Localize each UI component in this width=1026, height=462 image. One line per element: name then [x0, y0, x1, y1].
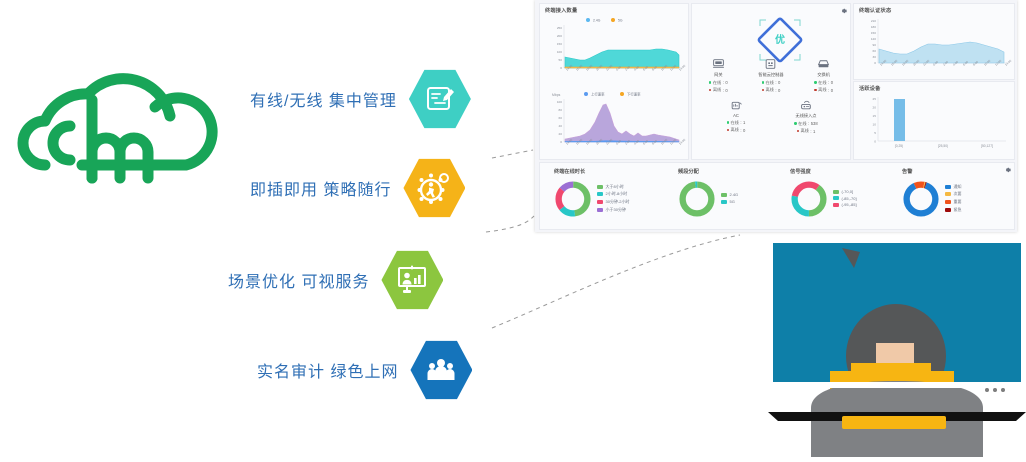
device-cell-switch[interactable]: 交换机 在线: 0 离线: 0	[798, 56, 850, 93]
donut-band-allocation[interactable]: 频段分配 2.4G 5G	[678, 163, 784, 229]
device-online: 在线: 1	[710, 120, 762, 126]
gateway-icon	[692, 56, 744, 71]
y-axis-ticks: 250 200 150 100 50 0	[557, 26, 562, 70]
people-group-icon	[410, 339, 472, 401]
svg-text:15: 15	[873, 114, 877, 118]
panel-title: 终端认证状态	[859, 7, 1014, 14]
person-in-gear-icon	[403, 157, 465, 219]
device-offline: 离线: 1	[780, 128, 832, 134]
device-name: 网关	[692, 72, 744, 78]
svg-text:10: 10	[873, 123, 877, 127]
svg-text:30: 30	[873, 55, 877, 59]
panel-auth-status[interactable]: 终端认证状态 210 180 150 120 90 60 30 0 14:00 …	[853, 3, 1015, 80]
donut-legend: 通知 次要 重要 紧急	[945, 184, 962, 214]
device-online: 在线: 0	[692, 80, 744, 86]
svg-text:250: 250	[557, 26, 562, 30]
svg-text:210: 210	[871, 19, 876, 23]
svg-text:20: 20	[559, 132, 563, 136]
y-axis-ticks: 25 20 15 10 5 0	[873, 97, 877, 144]
svg-text:2.4G: 2.4G	[593, 18, 601, 22]
svg-text:0: 0	[560, 66, 562, 70]
feature-row-3[interactable]: 场景优化 可视服务	[228, 249, 443, 311]
svg-text:下行速率: 下行速率	[627, 91, 641, 96]
presentation-chart-icon	[381, 249, 443, 311]
feature-label: 有线/无线 集中管理	[250, 87, 397, 111]
svg-text:100: 100	[557, 100, 562, 104]
donut-chart	[678, 180, 716, 218]
svg-text:上行速率: 上行速率	[591, 91, 605, 96]
donut-legend: (-70,0] (-85,-70] (-95,-85]	[833, 189, 857, 209]
donut-legend: 2.4G 5G	[721, 192, 738, 205]
donut-online-duration[interactable]: 终端在线时长 大于8小时 2小时-8小时 30分钟-2小时 小于30分钟	[554, 163, 674, 229]
terminal-access-chart: 2.4G 5G 250 200 150 100 50 0 14:00 16:00…	[540, 14, 688, 89]
svg-text:0: 0	[560, 140, 562, 144]
y-axis-ticks: 100 80 60 40 20 0	[557, 100, 562, 144]
panel-terminal-access[interactable]: 终端接入数量 2.4G 5G 250 200 150 100 50 0 14:0…	[539, 3, 689, 160]
svg-text:0: 0	[874, 61, 876, 65]
panel-device-health[interactable]: 优 网关 在线: 0 离线: 0 智能云控制器 在线:	[691, 3, 851, 160]
throughput-chart: Mbps 上行速率 下行速率 100 80 60 40 20 0 14:00	[540, 89, 688, 165]
runner-glyph	[426, 182, 435, 197]
panel-title: 活跃设备	[859, 85, 1014, 92]
chart-legend: 上行速率 下行速率	[584, 91, 641, 96]
panel-title: 终端接入数量	[545, 7, 688, 14]
svg-text:[50,127]: [50,127]	[981, 144, 993, 148]
access-point-icon	[780, 97, 832, 112]
device-offline: 离线: 0	[745, 87, 797, 93]
device-cell-cloud-controller[interactable]: 智能云控制器 在线: 0 离线: 0	[745, 56, 797, 93]
series-auth	[879, 42, 1004, 63]
feature-icon-hex[interactable]	[410, 339, 472, 401]
feature-icon-hex[interactable]	[409, 68, 471, 130]
svg-text:14:00: 14:00	[1004, 59, 1013, 67]
feature-row-1[interactable]: 有线/无线 集中管理	[250, 68, 471, 130]
panel-active-devices[interactable]: 活跃设备 25 20 15 10 5 0 [0,25) [25,50) [50,…	[853, 81, 1015, 160]
donut-legend: 大于8小时 2小时-8小时 30分钟-2小时 小于30分钟	[597, 184, 630, 214]
svg-text:200: 200	[557, 34, 562, 38]
switch-icon	[798, 56, 850, 71]
svg-text:60: 60	[873, 49, 877, 53]
svg-text:20: 20	[873, 106, 877, 110]
device-cell-access-point[interactable]: 无线接入点 在线: 538 离线: 1	[780, 97, 832, 134]
svg-text:180: 180	[871, 25, 876, 29]
device-offline: 离线: 0	[710, 127, 762, 133]
chair-stripe	[842, 416, 946, 429]
svg-text:5G: 5G	[618, 18, 623, 22]
svg-text:14:00: 14:00	[678, 138, 687, 146]
feature-icon-hex[interactable]	[403, 157, 465, 219]
brand-logo	[10, 60, 250, 210]
auth-status-chart: 210 180 150 120 90 60 30 0 14:00 16:00 1…	[854, 14, 1014, 80]
svg-text:150: 150	[871, 31, 876, 35]
dashboard-preview[interactable]: 终端接入数量 2.4G 5G 250 200 150 100 50 0 14:0…	[535, 0, 1017, 232]
svg-text:0: 0	[874, 140, 876, 144]
donut-title: 告警	[902, 168, 1010, 175]
donut-alarms[interactable]: 告警 通知 次要 重要 紧急	[902, 163, 1010, 229]
feature-label: 场景优化 可视服务	[228, 268, 369, 292]
panel-donut-row[interactable]: 终端在线时长 大于8小时 2小时-8小时 30分钟-2小时 小于30分钟 频段分…	[539, 162, 1015, 230]
svg-text:40: 40	[559, 124, 563, 128]
device-offline: 离线: 0	[692, 87, 744, 93]
feature-label: 即插即用 策略随行	[250, 176, 391, 200]
document-pencil-icon	[409, 68, 471, 130]
feature-row-4[interactable]: 实名审计 绿色上网	[257, 339, 472, 401]
device-online: 在线: 0	[745, 80, 797, 86]
svg-text:[0,25): [0,25)	[895, 144, 903, 148]
donut-title: 信号强度	[790, 168, 900, 175]
svg-text:150: 150	[557, 42, 562, 46]
svg-text:[25,50): [25,50)	[938, 144, 948, 148]
device-online: 在线: 538	[780, 121, 832, 127]
x-axis-ticks: [0,25) [25,50) [50,127]	[895, 144, 993, 148]
device-name: 交换机	[798, 72, 850, 78]
donut-title: 频段分配	[678, 168, 784, 175]
chart-legend: 2.4G 5G	[586, 18, 623, 22]
feature-icon-hex[interactable]	[381, 249, 443, 311]
svg-text:Mbps: Mbps	[552, 93, 561, 97]
feature-label: 实名审计 绿色上网	[257, 358, 398, 382]
svg-text:25: 25	[873, 97, 877, 101]
svg-text:120: 120	[871, 37, 876, 41]
gear-icon[interactable]	[840, 7, 847, 14]
donut-chart	[902, 180, 940, 218]
svg-text:80: 80	[559, 108, 563, 112]
series-2.4g	[565, 49, 679, 68]
svg-text:100: 100	[557, 50, 562, 54]
svg-text:60: 60	[559, 116, 563, 120]
cloud-controller-icon	[745, 56, 797, 71]
series-downlink	[565, 104, 679, 142]
ac-icon	[710, 97, 762, 112]
person-at-monitor-illustration	[768, 238, 1026, 457]
svg-text:90: 90	[873, 43, 877, 47]
bar-0	[894, 99, 905, 141]
device-cell-gateway[interactable]: 网关 在线: 0 离线: 0	[692, 56, 744, 93]
y-axis-ticks: 210 180 150 120 90 60 30 0	[871, 19, 876, 65]
device-online: 在线: 0	[798, 80, 850, 86]
donut-chart	[554, 180, 592, 218]
device-name: 智能云控制器	[745, 72, 797, 78]
donut-title: 终端在线时长	[554, 168, 674, 175]
device-status-grid: 网关 在线: 0 离线: 0 智能云控制器 在线: 0 离线: 0	[692, 56, 850, 138]
feature-row-2[interactable]: 即插即用 策略随行	[250, 157, 465, 219]
device-offline: 离线: 0	[798, 87, 850, 93]
svg-text:50: 50	[559, 58, 563, 62]
donut-signal-strength[interactable]: 信号强度 (-70,0] (-85,-70] (-95,-85]	[790, 163, 900, 229]
donut-chart	[790, 180, 828, 218]
active-devices-chart: 25 20 15 10 5 0 [0,25) [25,50) [50,127]	[854, 92, 1014, 160]
device-cell-ac[interactable]: AC 在线: 1 离线: 0	[710, 97, 762, 134]
device-name: 无线接入点	[780, 113, 832, 119]
device-name: AC	[710, 113, 762, 118]
svg-text:5: 5	[874, 131, 876, 135]
score-label: 优	[775, 33, 785, 46]
